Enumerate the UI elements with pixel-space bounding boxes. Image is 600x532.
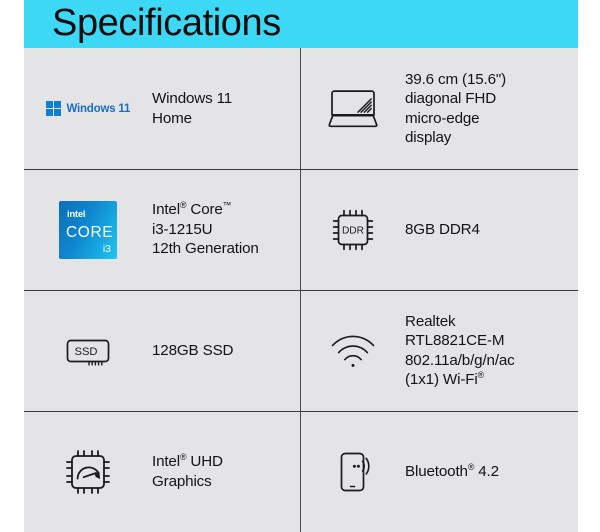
specifications-panel: Specifications Windows 11 Windows 11 Hom… xyxy=(0,0,600,532)
spec-cell-display: 39.6 cm (15.6") diagonal FHD micro-edge … xyxy=(301,48,578,169)
spec-cell-graphics: Intel® UHD Graphics xyxy=(24,411,301,532)
intel-core-badge-icon: intel CORE i3 xyxy=(24,169,152,290)
specifications-grid: Windows 11 Windows 11 Home 3 xyxy=(24,48,578,532)
svg-text:SSD: SSD xyxy=(74,345,97,357)
spec-cell-memory: DDR 8GB DDR4 xyxy=(301,169,578,290)
page-title: Specifications xyxy=(52,4,281,42)
bluetooth-phone-signal-icon xyxy=(301,411,405,532)
windows-logo-wordmark: Windows 11 xyxy=(66,103,130,115)
spec-label-processor: Intel® Core™ i3-1215U 12th Generation xyxy=(152,200,259,258)
intel-family-text: CORE xyxy=(66,224,113,242)
intel-brand-text: intel xyxy=(67,209,85,220)
spec-label-operating-system: Windows 11 Home xyxy=(152,89,232,128)
laptop-display-icon xyxy=(301,48,405,169)
spec-label-storage: 128GB SSD xyxy=(152,341,233,360)
spec-label-display: 39.6 cm (15.6") diagonal FHD micro-edge … xyxy=(405,70,506,148)
svg-text:DDR: DDR xyxy=(342,225,364,236)
spec-cell-processor: intel CORE i3 Intel® Core™ i3-1215U 12th… xyxy=(24,169,301,290)
spec-cell-storage: SSD 128GB SSD xyxy=(24,290,301,411)
spec-cell-operating-system: Windows 11 Windows 11 Home xyxy=(24,48,301,169)
spec-label-graphics: Intel® UHD Graphics xyxy=(152,452,223,491)
gpu-gauge-chip-icon xyxy=(24,411,152,532)
ssd-drive-icon: SSD xyxy=(24,290,152,411)
intel-tier-text: i3 xyxy=(103,243,111,255)
spec-label-wireless: Realtek RTL8821CE-M 802.11a/b/g/n/ac (1x… xyxy=(405,312,515,390)
ddr-memory-chip-icon: DDR xyxy=(301,169,405,290)
spec-label-bluetooth: Bluetooth® 4.2 xyxy=(405,462,499,481)
wifi-signal-icon xyxy=(301,290,405,411)
spec-cell-bluetooth: Bluetooth® 4.2 xyxy=(301,411,578,532)
windows-11-logo-icon: Windows 11 xyxy=(24,48,152,169)
spec-label-memory: 8GB DDR4 xyxy=(405,220,480,239)
windows-squares-icon xyxy=(46,101,62,117)
specifications-header-band: Specifications xyxy=(24,0,578,48)
spec-cell-wireless: Realtek RTL8821CE-M 802.11a/b/g/n/ac (1x… xyxy=(301,290,578,411)
